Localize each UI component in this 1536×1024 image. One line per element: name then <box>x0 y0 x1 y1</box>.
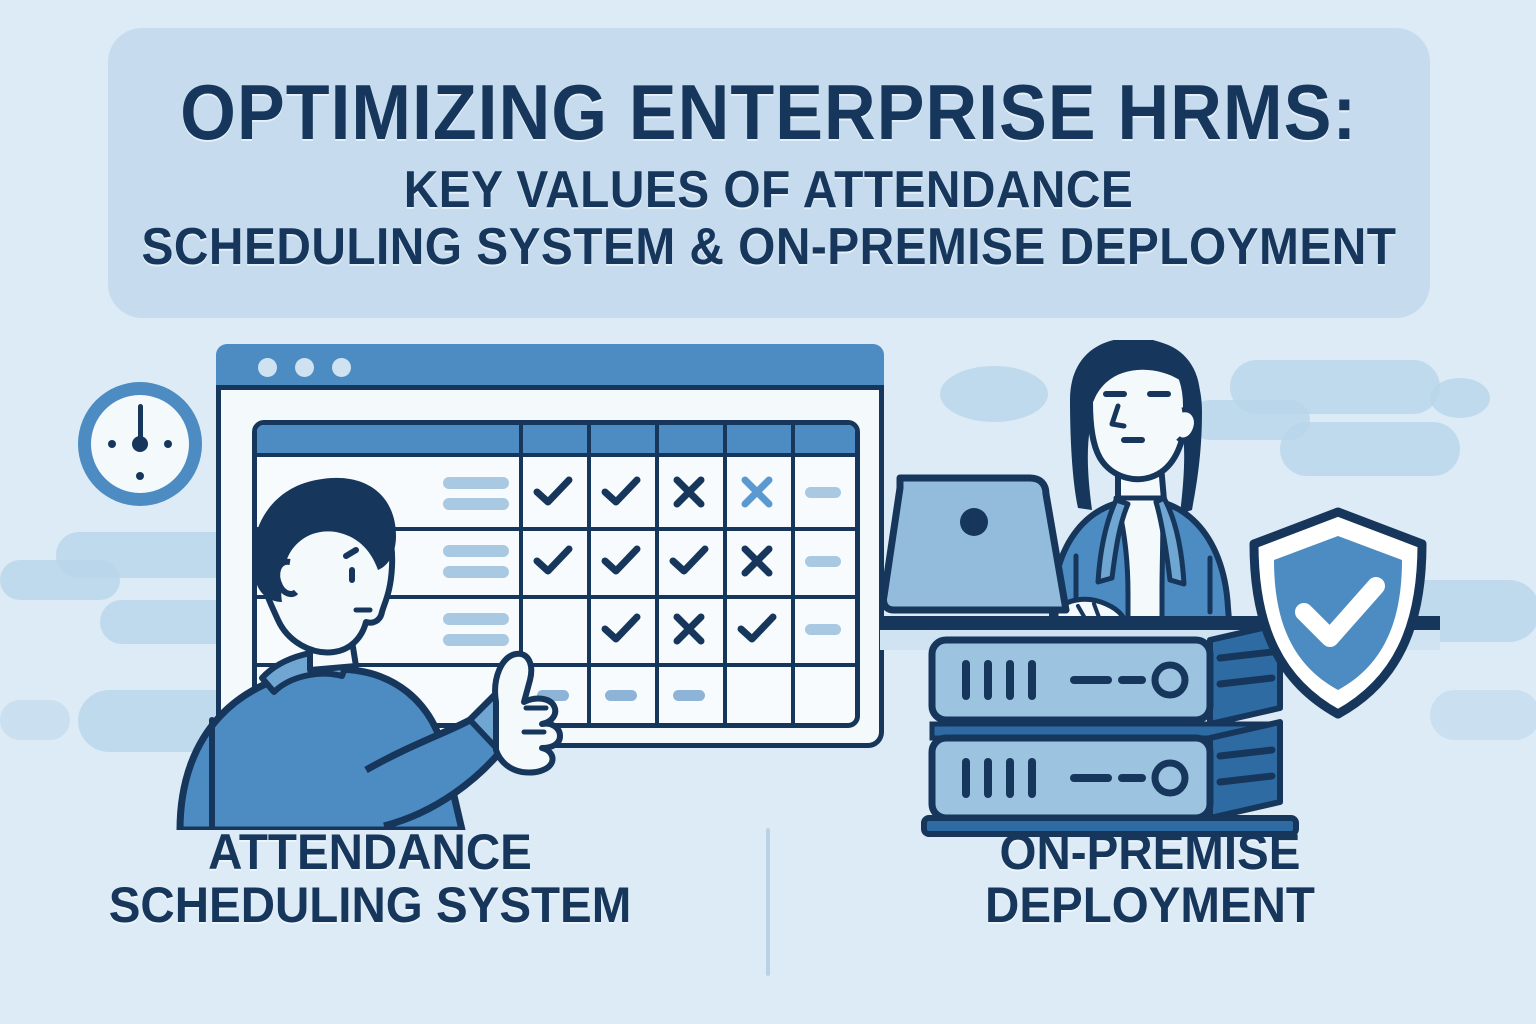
table-header-row <box>257 425 855 457</box>
title-line-2: KEY VALUES OF ATTENDANCE <box>404 163 1134 217</box>
laptop-logo <box>960 508 988 536</box>
table-cell-check[interactable] <box>587 595 655 663</box>
table-cell-dash[interactable] <box>655 663 723 727</box>
clock-dot <box>136 472 144 480</box>
clock-dot <box>164 440 172 448</box>
title-banner: OPTIMIZING ENTERPRISE HRMS: KEY VALUES O… <box>108 28 1430 318</box>
table-cell-dash[interactable] <box>791 457 855 527</box>
window-dot-1[interactable] <box>258 358 277 377</box>
title-line-3: SCHEDULING SYSTEM & ON-PREMISE DEPLOYMEN… <box>142 220 1397 274</box>
infographic-canvas: OPTIMIZING ENTERPRISE HRMS: KEY VALUES O… <box>0 0 1536 1024</box>
server-led <box>1155 665 1185 695</box>
right-caption: ON-PREMISE DEPLOYMENT <box>800 826 1500 932</box>
table-cell-cross-light[interactable] <box>723 457 791 527</box>
check-icon <box>601 613 641 645</box>
clock-hub <box>132 436 148 452</box>
table-cell-cross[interactable] <box>655 595 723 663</box>
cross-icon <box>672 612 706 646</box>
table-cell-empty[interactable] <box>723 663 791 727</box>
table-cell-dash[interactable] <box>791 527 855 595</box>
right-caption-line-1: ON-PREMISE <box>818 826 1483 879</box>
cross-icon <box>672 475 706 509</box>
title-line-1: OPTIMIZING ENTERPRISE HRMS: <box>180 72 1357 153</box>
cross-icon <box>740 544 774 578</box>
dash-icon <box>605 690 637 701</box>
dash-icon <box>673 690 705 701</box>
man-pointing-figure <box>170 470 590 830</box>
check-icon <box>737 613 777 645</box>
laptop-icon <box>883 478 1066 610</box>
table-cell-check[interactable] <box>587 457 655 527</box>
check-icon <box>601 545 641 577</box>
vertical-divider <box>766 828 770 976</box>
dash-icon <box>805 487 841 498</box>
table-cell-dash[interactable] <box>587 663 655 727</box>
server-led <box>1155 763 1185 793</box>
table-cell-check[interactable] <box>655 527 723 595</box>
left-caption-line-1: ATTENDANCE <box>19 826 722 879</box>
table-cell-dash[interactable] <box>791 595 855 663</box>
check-icon <box>669 545 709 577</box>
background-deco-bar <box>1430 690 1536 740</box>
window-dot-2[interactable] <box>295 358 314 377</box>
right-caption-line-2: DEPLOYMENT <box>818 879 1483 932</box>
cross-icon <box>740 475 774 509</box>
browser-titlebar <box>216 344 884 390</box>
background-deco-bar <box>0 560 120 600</box>
check-icon <box>601 476 641 508</box>
table-cell-check[interactable] <box>587 527 655 595</box>
on-premise-scene <box>880 340 1440 840</box>
woman-at-laptop-figure <box>1052 340 1230 632</box>
window-dot-3[interactable] <box>332 358 351 377</box>
table-cell-cross[interactable] <box>655 457 723 527</box>
table-cell-check[interactable] <box>723 595 791 663</box>
table-cell-cross[interactable] <box>723 527 791 595</box>
table-cell-empty[interactable] <box>791 663 855 727</box>
clock-dot <box>108 440 116 448</box>
server-rack-icon <box>924 624 1296 834</box>
left-caption: ATTENDANCE SCHEDULING SYSTEM <box>0 826 740 932</box>
dash-icon <box>805 624 841 635</box>
dash-icon <box>805 556 841 567</box>
background-deco-bar <box>0 700 70 740</box>
left-caption-line-2: SCHEDULING SYSTEM <box>19 879 722 932</box>
